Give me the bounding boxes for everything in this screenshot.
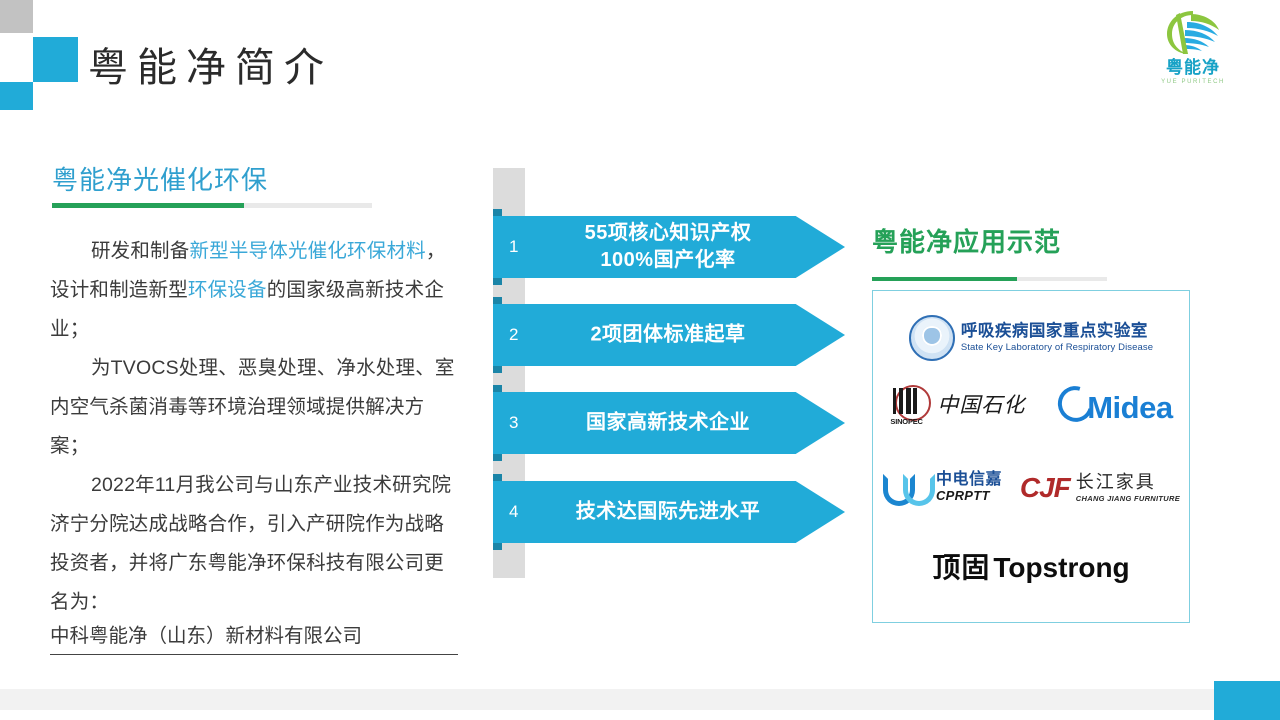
partner-logo-box: 呼吸疾病国家重点实验室 State Key Laboratory of Resp… bbox=[872, 290, 1190, 623]
banner-tab-bottom bbox=[493, 278, 502, 285]
banner-tab-top bbox=[493, 474, 502, 481]
topstrong-name-en: Topstrong bbox=[993, 552, 1129, 583]
partner-logo-row-3: 中电信嘉 CPRPTT CJF 长江家具 CHANG JIANG FURNITU… bbox=[873, 459, 1189, 517]
cjf-monogram: CJF bbox=[1020, 474, 1070, 502]
midea-name-en: Midea bbox=[1087, 390, 1172, 425]
decor-square-blue-large bbox=[33, 37, 78, 82]
topstrong-name-cn: 顶固 bbox=[932, 552, 990, 583]
achievement-banner-4[interactable]: 4 技术达国际先进水平 bbox=[493, 481, 845, 543]
sinopec-mark-icon: SINOPEC bbox=[889, 384, 931, 424]
partner-logo-cjf: CJF 长江家具 CHANG JIANG FURNITURE bbox=[1020, 473, 1180, 503]
left-heading-rule bbox=[52, 203, 372, 208]
partner-logo-topstrong: 顶固Topstrong bbox=[932, 554, 1129, 582]
lab-name-en: State Key Laboratory of Respiratory Dise… bbox=[961, 342, 1153, 353]
right-section-heading: 粤能净应用示范 bbox=[872, 222, 1061, 259]
cjf-name-en: CHANG JIANG FURNITURE bbox=[1076, 494, 1180, 503]
partner-logo-row-2: SINOPEC 中国石化 Midea bbox=[873, 375, 1189, 433]
lab-name-cn: 呼吸疾病国家重点实验室 bbox=[961, 322, 1153, 340]
right-heading-rule bbox=[872, 277, 1107, 281]
banner-tab-bottom bbox=[493, 366, 502, 373]
banner-tab-top bbox=[493, 385, 502, 392]
partner-logo-row-4: 顶固Topstrong bbox=[873, 539, 1189, 597]
banner-number: 3 bbox=[509, 413, 518, 433]
banner-tab-top bbox=[493, 297, 502, 304]
partner-logo-state-key-lab: 呼吸疾病国家重点实验室 State Key Laboratory of Resp… bbox=[909, 315, 1153, 361]
partner-logo-row-1: 呼吸疾病国家重点实验室 State Key Laboratory of Resp… bbox=[873, 309, 1189, 367]
midea-wordmark: Midea bbox=[1058, 386, 1172, 423]
left-heading-rule-fill bbox=[52, 203, 244, 208]
banner-label: 55项核心知识产权 100%国产化率 bbox=[551, 220, 785, 274]
partner-logo-sinopec: SINOPEC 中国石化 bbox=[889, 384, 1025, 424]
leaf-swoosh-globe-icon bbox=[1163, 8, 1223, 58]
brand-logo: 粤能净 YUE PURITECH bbox=[1134, 8, 1252, 96]
lungs-seal-icon bbox=[909, 315, 955, 361]
achievement-banner-1[interactable]: 1 55项核心知识产权 100%国产化率 bbox=[493, 216, 845, 278]
banner-tab-bottom bbox=[493, 543, 502, 550]
left-section-heading: 粤能净光催化环保 bbox=[52, 160, 268, 197]
brand-name-cn: 粤能净 bbox=[1134, 59, 1252, 76]
partner-logo-midea: Midea bbox=[1058, 386, 1172, 423]
paragraph-3: 2022年11月我公司与山东产业技术研究院济宁分院达成战略合作，引入产研院作为战… bbox=[50, 466, 458, 622]
footer-band bbox=[0, 689, 1280, 710]
slide-root: 粤能净简介 粤能净 YUE PURITECH 粤能净光催化环保 研发和制备新型半… bbox=[0, 0, 1280, 720]
banner-label: 技术达国际先进水平 bbox=[551, 499, 785, 526]
cprptt-name-cn: 中电信嘉 bbox=[936, 472, 1002, 489]
paragraph-1: 研发和制备新型半导体光催化环保材料，设计和制造新型环保设备的国家级高新技术企业； bbox=[50, 232, 458, 349]
banner-tab-top bbox=[493, 209, 502, 216]
left-body-text: 研发和制备新型半导体光催化环保材料，设计和制造新型环保设备的国家级高新技术企业；… bbox=[50, 232, 458, 622]
decor-square-blue-small bbox=[0, 82, 33, 110]
banner-label: 2项团体标准起草 bbox=[551, 322, 785, 349]
right-heading-rule-fill bbox=[872, 277, 1017, 281]
partner-logo-cprptt: 中电信嘉 CPRPTT bbox=[882, 471, 1002, 505]
banner-label: 国家高新技术企业 bbox=[551, 410, 785, 437]
achievement-banner-2[interactable]: 2 2项团体标准起草 bbox=[493, 304, 845, 366]
banner-number: 4 bbox=[509, 502, 518, 522]
run-1-2-highlight: 新型半导体光催化环保材料 bbox=[189, 240, 425, 262]
cprptt-name-en: CPRPTT bbox=[936, 489, 1002, 503]
brand-name-en: YUE PURITECH bbox=[1134, 79, 1252, 85]
banner-number: 2 bbox=[509, 325, 518, 345]
run-1-1: 研发和制备 bbox=[91, 240, 190, 262]
banner-number: 1 bbox=[509, 237, 518, 257]
decor-square-gray bbox=[0, 0, 33, 33]
page-title: 粤能净简介 bbox=[88, 35, 333, 93]
achievement-banner-3[interactable]: 3 国家高新技术企业 bbox=[493, 392, 845, 454]
sinopec-name-en: SINOPEC bbox=[890, 417, 922, 426]
run-1-4-highlight: 环保设备 bbox=[188, 279, 267, 301]
sinopec-name-cn: 中国石化 bbox=[937, 389, 1025, 419]
paragraph-2: 为TVOCS处理、恶臭处理、净水处理、室内空气杀菌消毒等环境治理领域提供解决方案… bbox=[50, 349, 458, 466]
topstrong-wordmark: 顶固Topstrong bbox=[932, 554, 1129, 582]
double-wave-icon bbox=[882, 471, 930, 505]
company-renamed-to: 中科粤能净（山东）新材料有限公司 bbox=[50, 620, 458, 655]
cjf-name-cn: 长江家具 bbox=[1076, 473, 1180, 493]
footer-accent-square bbox=[1214, 681, 1280, 720]
banner-tab-bottom bbox=[493, 454, 502, 461]
